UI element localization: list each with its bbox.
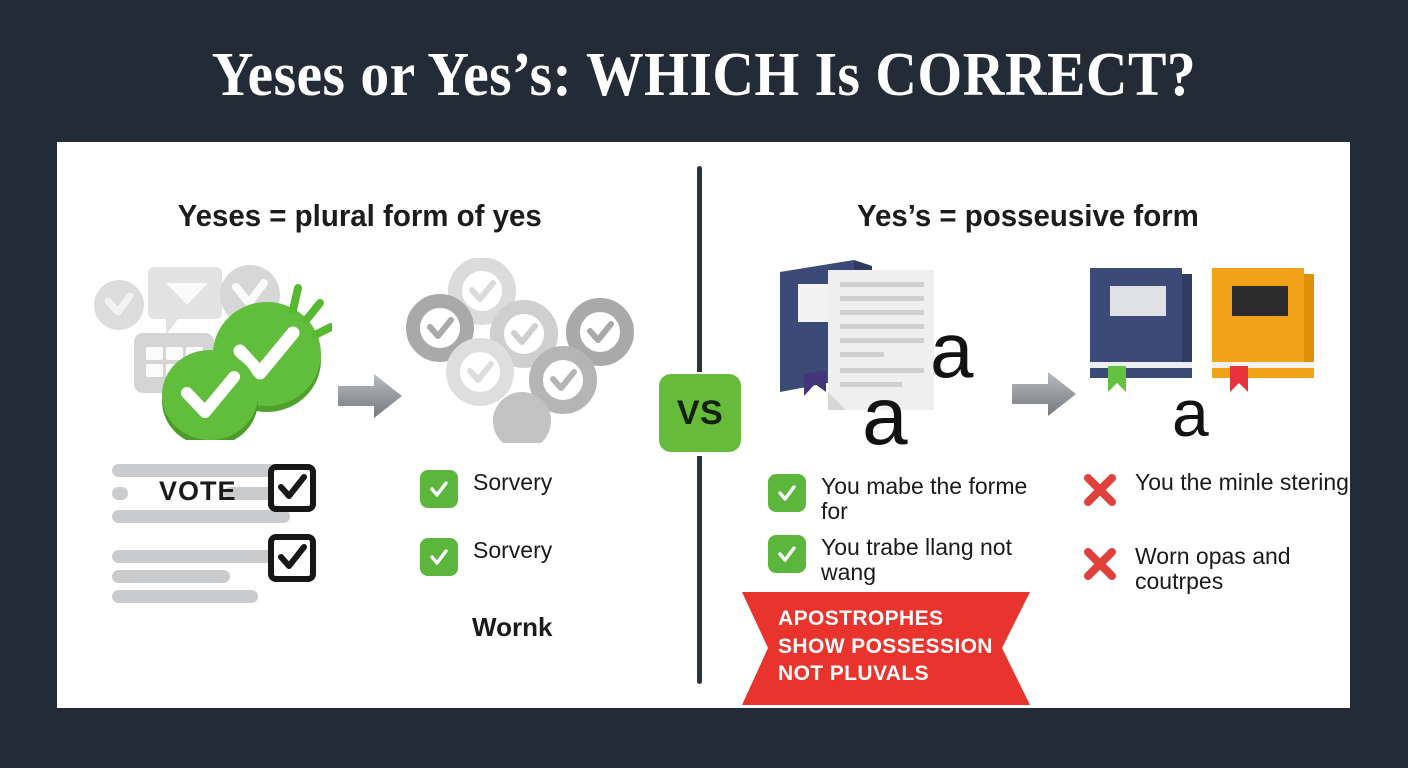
ballot-checkbox-1[interactable] <box>268 464 316 512</box>
list-item-left-2: Sorvery <box>420 538 552 576</box>
letter-a-2: a <box>862 370 908 464</box>
list-item-label: Sorvery <box>473 538 552 563</box>
orange-book <box>1212 268 1314 392</box>
list-item-right-cross-1: You the minle stering <box>1080 470 1349 510</box>
check-icon <box>420 470 458 508</box>
list-item-label: You trabe llang not wang <box>821 535 1036 585</box>
green-approval-illustration <box>92 255 332 440</box>
green-check-coins <box>162 302 321 440</box>
ribbon-line-2: SHOW POSSESSION <box>778 633 993 661</box>
left-column-heading: Yeses = plural form of yes <box>178 198 542 234</box>
list-item-label: Sorvery <box>473 470 552 495</box>
letter-a-3: a <box>1172 375 1209 451</box>
ribbon-line-1: APOSTROPHES <box>778 605 993 633</box>
arrow-right-icon-left <box>336 372 404 420</box>
list-item-right-check-1: You mabe the forme for <box>768 474 1036 524</box>
list-item-label: You the minle stering <box>1135 470 1349 495</box>
ballot-checkbox-2[interactable] <box>268 534 316 582</box>
ribbon-text: APOSTROPHES SHOW POSSESSION NOT PLUVALS <box>778 605 993 688</box>
letter-a-1: a <box>930 305 973 396</box>
list-item-right-check-2: You trabe llang not wang <box>768 535 1036 585</box>
list-item-left-1: Sorvery <box>420 470 552 508</box>
vs-badge: VS <box>659 374 741 452</box>
vote-label: VOTE <box>159 476 237 507</box>
list-item-label: Worn opas and coutrpes <box>1135 544 1350 594</box>
right-column-heading: Yes’s = posseusive form <box>857 198 1199 234</box>
vote-ballot-illustration: VOTE <box>112 458 337 588</box>
check-icon <box>768 474 806 512</box>
ribbon-line-3: NOT PLUVALS <box>778 660 993 688</box>
left-footer-label: Wornk <box>472 612 552 643</box>
gray-check-cluster-illustration <box>402 258 652 443</box>
cross-icon <box>1080 470 1120 510</box>
cross-icon <box>1080 544 1120 584</box>
list-item-right-cross-2: Worn opas and coutrpes <box>1080 544 1350 594</box>
page-title: Yeses or Yes’s: WHICH Is CORRECT? <box>49 40 1358 111</box>
check-icon <box>420 538 458 576</box>
apostrophe-ribbon-banner: APOSTROPHES SHOW POSSESSION NOT PLUVALS <box>742 592 1030 705</box>
check-icon <box>768 535 806 573</box>
infographic-canvas: Yeses or Yes’s: WHICH Is CORRECT? Yeses … <box>0 0 1408 768</box>
navy-book-2 <box>1090 268 1192 392</box>
arrow-right-icon-right <box>1010 370 1078 418</box>
list-item-label: You mabe the forme for <box>821 474 1036 524</box>
